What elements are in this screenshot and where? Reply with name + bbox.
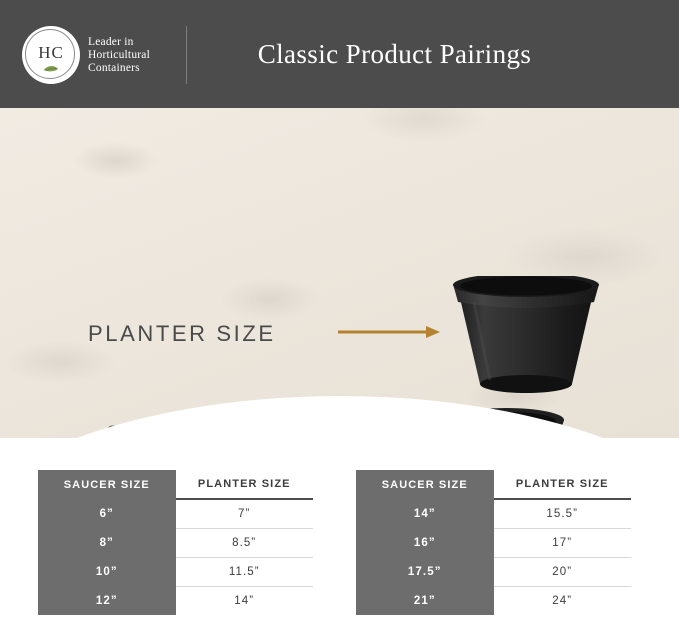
table-body: 6” 7” 8” 8.5” 10” 11.5” 12” 14” (38, 499, 313, 615)
cell-saucer-size: 10” (38, 558, 176, 587)
column-header-saucer-size: SAUCER SIZE (356, 470, 494, 499)
black-planter-pot (446, 276, 606, 394)
cell-saucer-size: 16” (356, 529, 494, 558)
table-header-row: SAUCER SIZE PLANTER SIZE (38, 470, 313, 499)
cell-saucer-size: 6” (38, 499, 176, 529)
size-table-left-grid: SAUCER SIZE PLANTER SIZE 6” 7” 8” 8.5” 1… (38, 470, 313, 615)
size-table-left: SAUCER SIZE PLANTER SIZE 6” 7” 8” 8.5” 1… (38, 470, 313, 615)
arrow-right-icon (338, 325, 442, 339)
cell-saucer-size: 17.5” (356, 558, 494, 587)
hero-section: PLANTER SIZE SAUCER SIZE (0, 108, 679, 438)
header-divider (186, 26, 187, 84)
logo-badge: HC (22, 26, 80, 84)
table-row: 10” 11.5” (38, 558, 313, 587)
column-header-saucer-size: SAUCER SIZE (38, 470, 176, 499)
table-head: SAUCER SIZE PLANTER SIZE (38, 470, 313, 499)
table-row: 21” 24” (356, 587, 631, 616)
cell-planter-size: 24” (494, 587, 632, 616)
cell-planter-size: 17” (494, 529, 632, 558)
logo-tagline-line3: Containers (88, 62, 150, 75)
table-row: 16” 17” (356, 529, 631, 558)
table-header-row: SAUCER SIZE PLANTER SIZE (356, 470, 631, 499)
planter-size-label: PLANTER SIZE (88, 321, 276, 347)
page-header: HC Leader in Horticultural Containers Cl… (0, 0, 679, 108)
table-row: 17.5” 20” (356, 558, 631, 587)
logo-monogram: HC (38, 43, 64, 63)
leaf-icon (43, 64, 59, 72)
brand-logo: HC Leader in Horticultural Containers (22, 24, 197, 86)
cell-saucer-size: 8” (38, 529, 176, 558)
size-pairing-tables: SAUCER SIZE PLANTER SIZE 6” 7” 8” 8.5” 1… (0, 470, 679, 636)
cell-saucer-size: 21” (356, 587, 494, 616)
cell-planter-size: 8.5” (176, 529, 314, 558)
cell-planter-size: 11.5” (176, 558, 314, 587)
cell-saucer-size: 12” (38, 587, 176, 616)
logo-tagline-line1: Leader in (88, 36, 150, 49)
cell-planter-size: 14” (176, 587, 314, 616)
table-head: SAUCER SIZE PLANTER SIZE (356, 470, 631, 499)
column-header-planter-size: PLANTER SIZE (176, 470, 314, 499)
cell-saucer-size: 14” (356, 499, 494, 529)
cell-planter-size: 20” (494, 558, 632, 587)
column-header-planter-size: PLANTER SIZE (494, 470, 632, 499)
cell-planter-size: 15.5” (494, 499, 632, 529)
table-row: 12” 14” (38, 587, 313, 616)
table-body: 14” 15.5” 16” 17” 17.5” 20” 21” 24” (356, 499, 631, 615)
logo-tagline: Leader in Horticultural Containers (88, 36, 150, 75)
cell-planter-size: 7” (176, 499, 314, 529)
size-table-right: SAUCER SIZE PLANTER SIZE 14” 15.5” 16” 1… (356, 470, 631, 615)
logo-tagline-line2: Horticultural (88, 49, 150, 62)
table-row: 14” 15.5” (356, 499, 631, 529)
size-table-right-grid: SAUCER SIZE PLANTER SIZE 14” 15.5” 16” 1… (356, 470, 631, 615)
table-row: 6” 7” (38, 499, 313, 529)
table-row: 8” 8.5” (38, 529, 313, 558)
